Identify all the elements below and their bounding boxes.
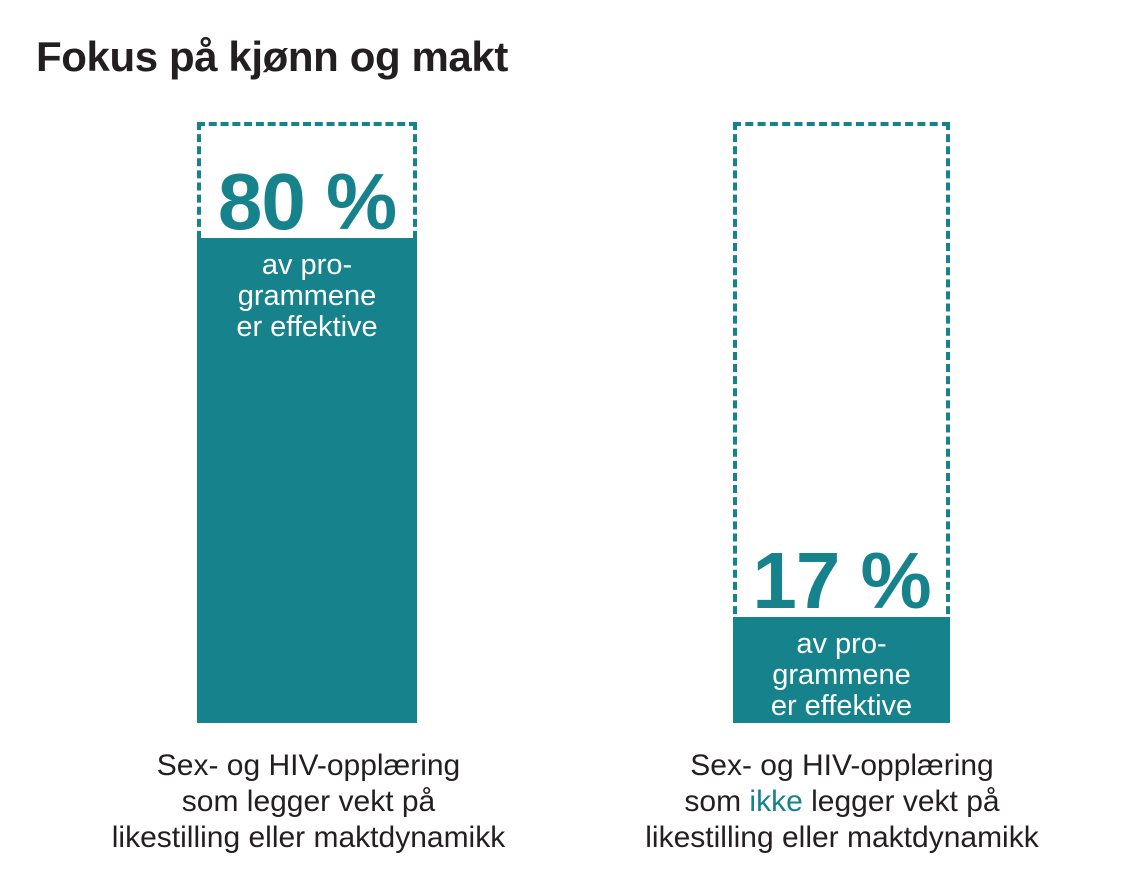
bar-caption-1: Sex- og HIV-opplæring som ikke legger ve… (628, 748, 1056, 856)
bar-inner-label-line-1: av pro- (739, 629, 944, 660)
bar-value-label-0: 80 % (197, 162, 417, 242)
bar-caption-0: Sex- og HIV-opplæring som legger vekt på… (96, 748, 521, 856)
bar-caption-0-line-1: Sex- og HIV-opplæring (96, 748, 521, 784)
bar-caption-0-line-2: som legger vekt på (96, 784, 521, 820)
bar-inner-label-line-3: er effektive (739, 691, 944, 722)
bar-value-label-1: 17 % (733, 541, 950, 621)
bar-inner-label-line-3: er effektive (203, 312, 411, 343)
bar-fill-1: av pro- grammene er effektive (733, 617, 950, 723)
bar-caption-0-line-3: likestilling eller maktdynamikk (96, 820, 521, 856)
caption-pre: som legger vekt på (182, 785, 435, 818)
bar-caption-1-line-3: likestilling eller maktdynamikk (628, 820, 1056, 856)
bar-inner-label-line-1: av pro- (203, 250, 411, 281)
bar-column-1: 17 % av pro- grammene er effektive (733, 122, 950, 723)
bar-caption-1-line-1: Sex- og HIV-opplæring (628, 748, 1056, 784)
bar-frame-0: 80 % av pro- grammene er effektive (197, 122, 417, 723)
caption-highlight: ikke (749, 785, 802, 818)
bar-caption-1-line-2: som ikke legger vekt på (628, 784, 1056, 820)
bar-inner-label-1: av pro- grammene er effektive (733, 629, 950, 722)
caption-post: legger vekt på (803, 785, 1000, 818)
chart-plot-area: 80 % av pro- grammene er effektive 17 % … (0, 0, 1131, 872)
bar-inner-label-0: av pro- grammene er effektive (197, 250, 417, 343)
bar-frame-1: 17 % av pro- grammene er effektive (733, 122, 950, 723)
bar-inner-label-line-2: grammene (203, 281, 411, 312)
bar-fill-0: av pro- grammene er effektive (197, 238, 417, 723)
bar-column-0: 80 % av pro- grammene er effektive (197, 122, 417, 723)
bar-inner-label-line-2: grammene (739, 660, 944, 691)
caption-pre: som (684, 785, 749, 818)
